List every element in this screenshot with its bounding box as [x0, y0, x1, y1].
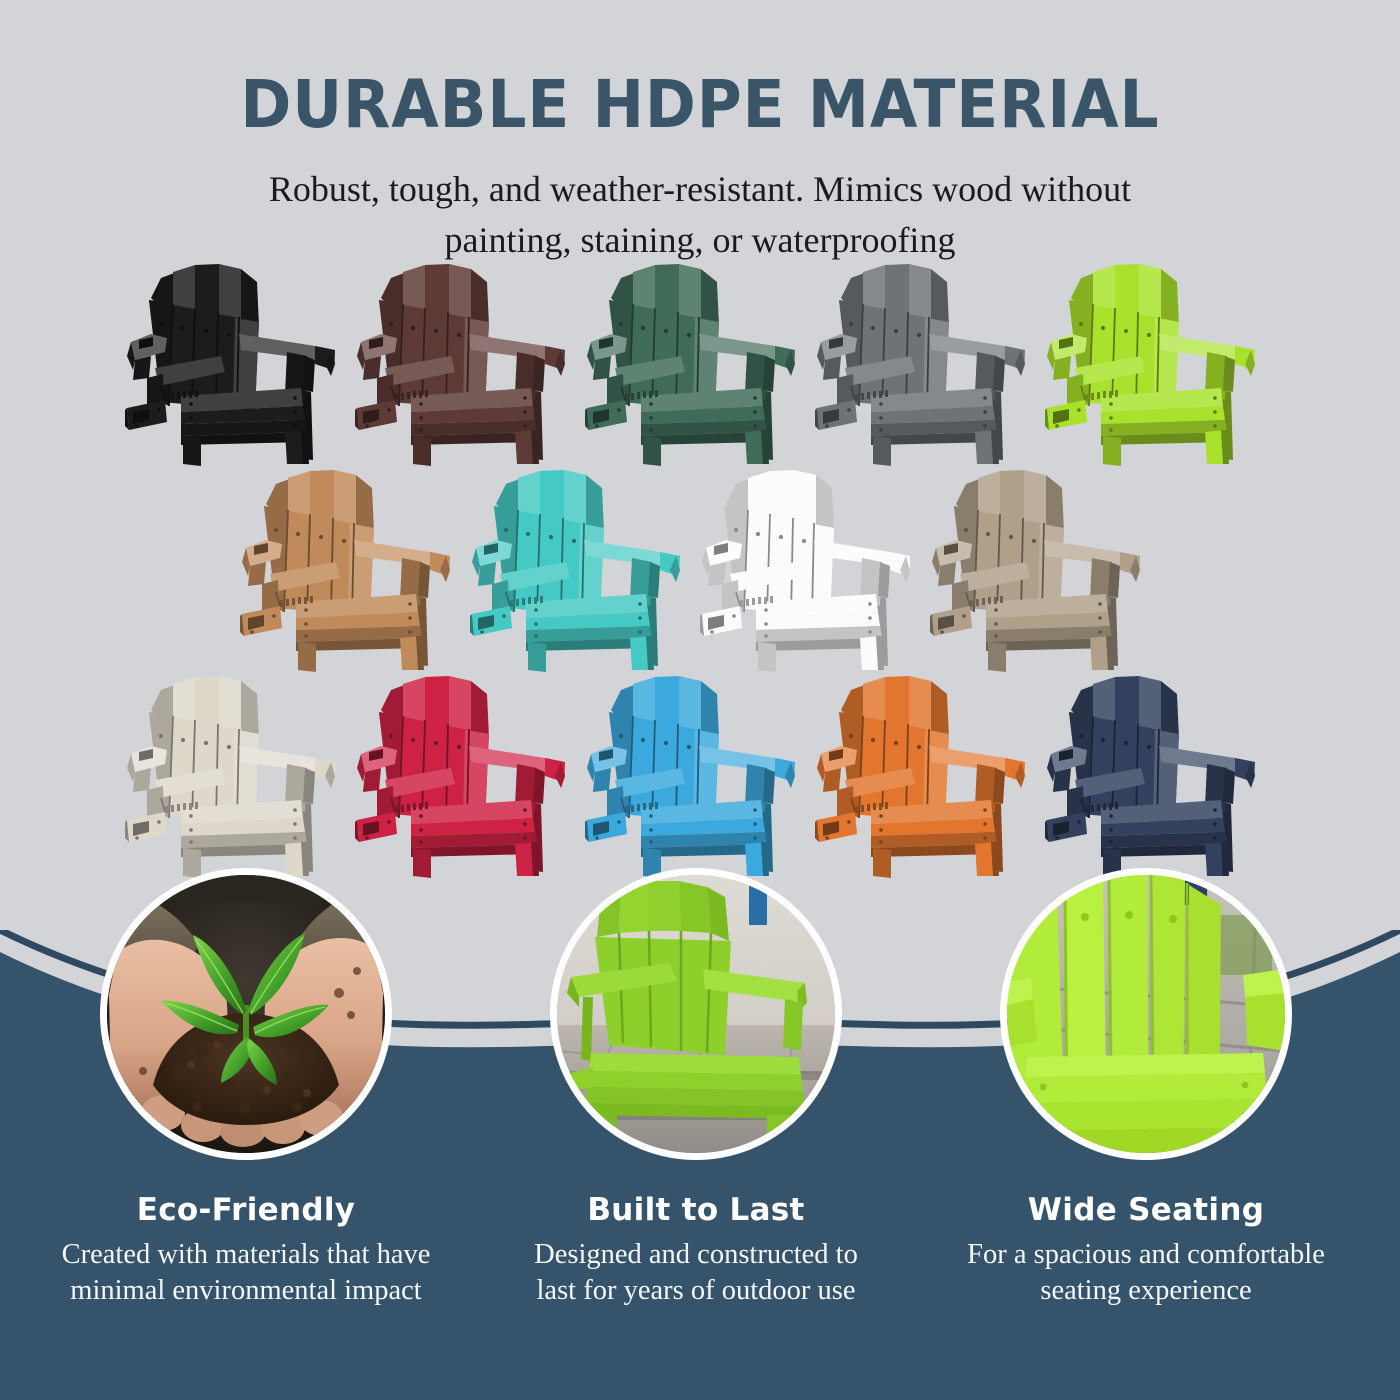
feature-photo-wide-seating [1000, 868, 1292, 1160]
chair-brown [355, 260, 585, 470]
feature-photo-eco-friendly [100, 868, 392, 1160]
chair-khaki [930, 466, 1160, 676]
infographic-page: DURABLE HDPE MATERIAL Robust, tough, and… [0, 0, 1400, 1400]
chair-color-grid [0, 260, 1400, 882]
feature-desc-line-1: Created with materials that have [16, 1237, 476, 1273]
chair-lime-green [1045, 260, 1275, 470]
chair-white [700, 466, 930, 676]
chair-row-3 [0, 672, 1400, 882]
chair-teak [240, 466, 470, 676]
chair-forest-green [585, 260, 815, 470]
page-subtitle: Robust, tough, and weather-resistant. Mi… [200, 164, 1200, 266]
hands-soil-seedling-photo [107, 875, 385, 1153]
chair-orange [815, 672, 1045, 882]
chair-navy-blue [1045, 672, 1275, 882]
lime-chair-patio-photo [557, 875, 835, 1153]
chair-turquoise [470, 466, 700, 676]
lime-chair-wide-seat-photo [1007, 875, 1285, 1153]
chair-blue [585, 672, 815, 882]
feature-wide-seating: Wide Seating For a spacious and comforta… [916, 1192, 1376, 1310]
feature-desc-line-1: For a spacious and comfortable [916, 1237, 1376, 1273]
chair-orange [815, 672, 1045, 882]
chair-blue [585, 672, 815, 882]
chair-ivory [125, 672, 355, 882]
subtitle-line-1: Robust, tough, and weather-resistant. Mi… [200, 164, 1200, 215]
subtitle-line-2: painting, staining, or waterproofing [200, 215, 1200, 266]
feature-title: Built to Last [466, 1192, 926, 1228]
chair-turquoise [470, 466, 700, 676]
feature-built-to-last: Built to Last Designed and constructed t… [466, 1192, 926, 1310]
feature-title: Wide Seating [916, 1192, 1376, 1228]
header: DURABLE HDPE MATERIAL Robust, tough, and… [0, 0, 1400, 266]
chair-khaki [930, 466, 1160, 676]
chair-row-1 [0, 260, 1400, 470]
chair-black [125, 260, 355, 470]
page-title: DURABLE HDPE MATERIAL [49, 72, 1351, 138]
chair-gray [815, 260, 1045, 470]
chair-row-2 [0, 466, 1400, 676]
chair-brown [355, 260, 585, 470]
chair-red [355, 672, 585, 882]
feature-desc-line-1: Designed and constructed to [466, 1237, 926, 1273]
chair-gray [815, 260, 1045, 470]
chair-black [125, 260, 355, 470]
chair-teak [240, 466, 470, 676]
feature-title: Eco-Friendly [16, 1192, 476, 1228]
chair-forest-green [585, 260, 815, 470]
chair-red [355, 672, 585, 882]
chair-lime-green [1045, 260, 1275, 470]
feature-desc-line-2: minimal environmental impact [16, 1273, 476, 1309]
chair-navy-blue [1045, 672, 1275, 882]
chair-white [700, 466, 930, 676]
chair-ivory [125, 672, 355, 882]
feature-desc-line-2: last for years of outdoor use [466, 1273, 926, 1309]
feature-desc-line-2: seating experience [916, 1273, 1376, 1309]
feature-eco-friendly: Eco-Friendly Created with materials that… [16, 1192, 476, 1310]
feature-photo-built-to-last [550, 868, 842, 1160]
